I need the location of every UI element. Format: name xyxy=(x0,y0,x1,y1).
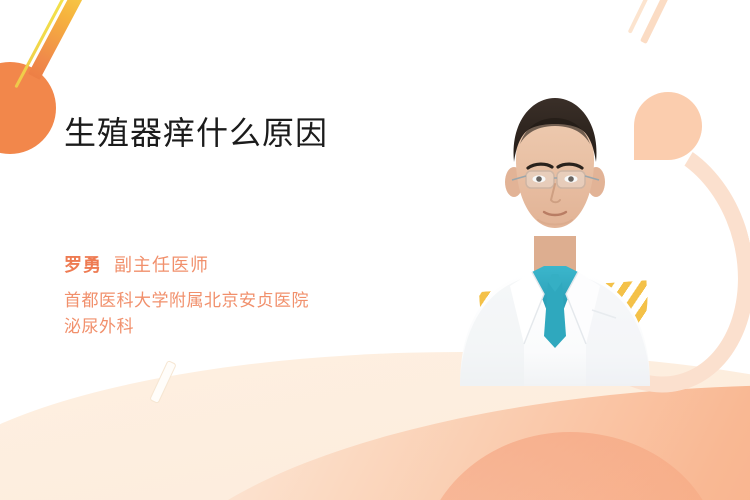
peach-circle-decoration xyxy=(634,92,702,160)
doctor-byline: 罗勇副主任医师 xyxy=(64,251,424,277)
doctor-professional-title: 副主任医师 xyxy=(114,255,209,275)
bottom-salmon-wave-shape xyxy=(140,367,750,500)
yellow-striped-semicircle-decoration xyxy=(479,280,653,387)
doctor-name: 罗勇 xyxy=(64,255,102,275)
doctor-affiliation: 首都医科大学附属北京安贞医院 泌尿外科 xyxy=(64,288,424,340)
department-name: 泌尿外科 xyxy=(64,314,424,340)
orange-diagonal-stroke-icon xyxy=(28,0,89,80)
doctor-video-cover-card: 生殖器痒什么原因 罗勇副主任医师 首都医科大学附属北京安贞医院 泌尿外科 xyxy=(0,0,750,500)
doctor-portrait xyxy=(440,86,670,386)
page-title: 生殖器痒什么原因 xyxy=(64,110,424,156)
pale-diagonal-stroke-icon-a xyxy=(640,0,677,44)
outlined-diagonal-stroke-icon xyxy=(149,360,177,404)
orange-circle-decoration xyxy=(0,62,56,154)
peach-arc-ribbon-decoration xyxy=(519,111,750,415)
salmon-wave-shadow-lobe xyxy=(420,432,720,500)
yellow-stripe-pattern xyxy=(479,280,653,387)
cover-text-block: 生殖器痒什么原因 罗勇副主任医师 首都医科大学附属北京安贞医院 泌尿外科 xyxy=(64,110,424,340)
peach-circle-notch-decoration xyxy=(634,126,668,160)
pale-diagonal-stroke-icon-b xyxy=(628,0,659,34)
yellow-diagonal-stroke-icon xyxy=(14,0,68,88)
hospital-name: 首都医科大学附属北京安贞医院 xyxy=(64,288,424,314)
bottom-cream-wave-shape xyxy=(0,352,750,500)
